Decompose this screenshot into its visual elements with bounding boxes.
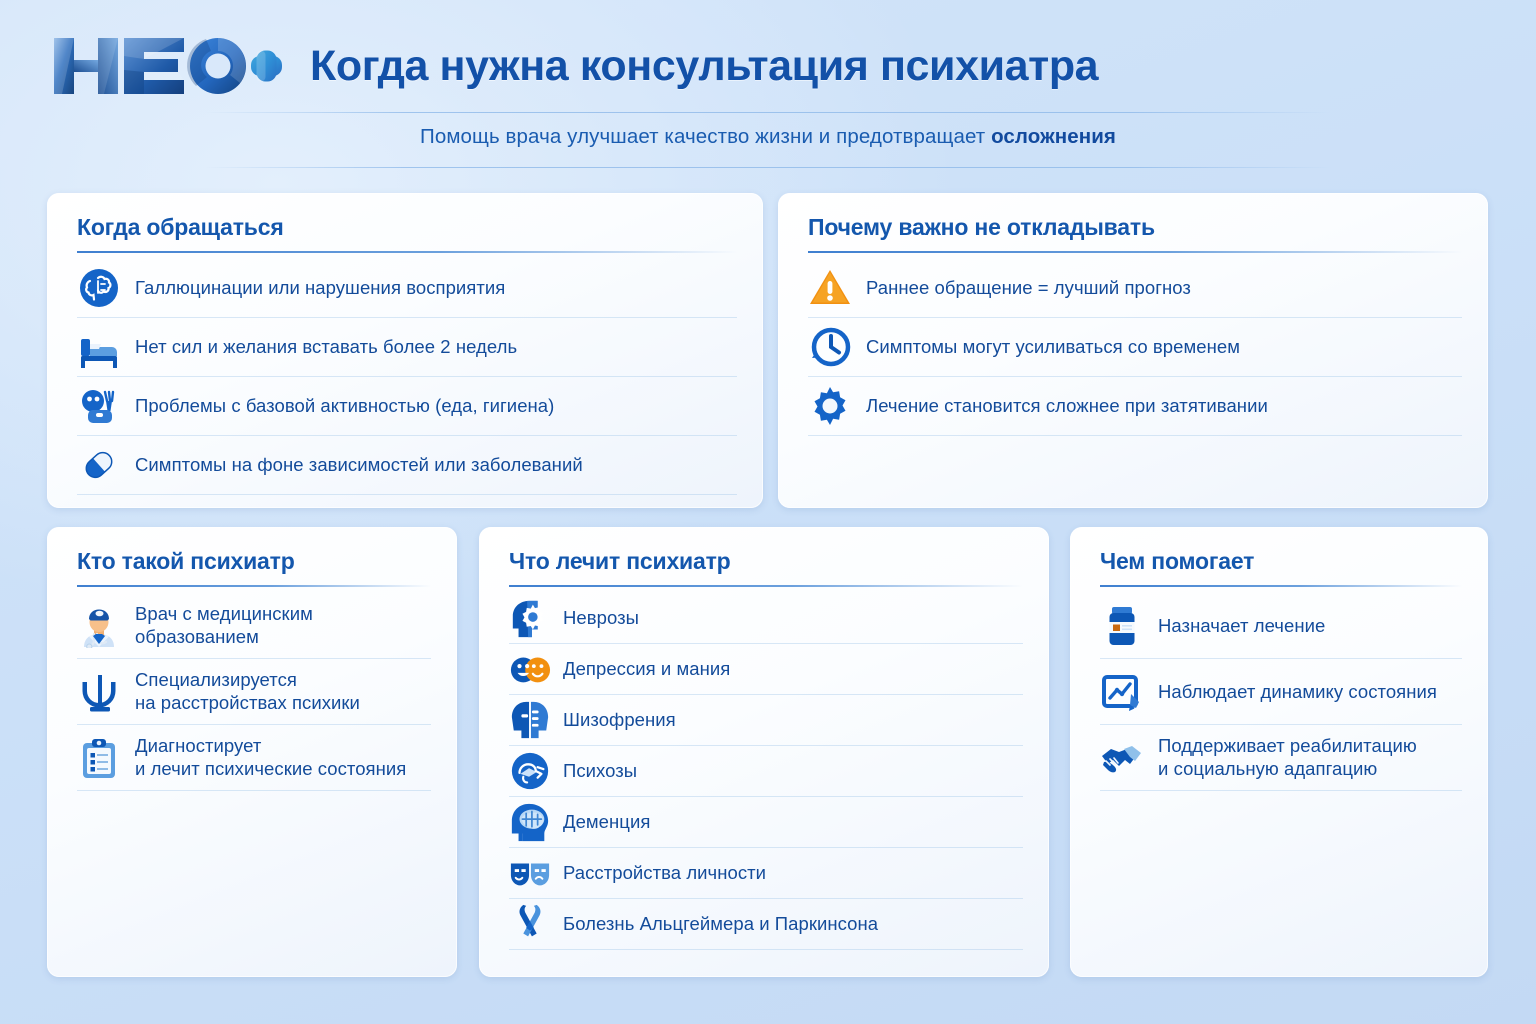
list-item-label: Галлюцинации или нарушения восприятия [135,277,505,300]
bed-icon [77,325,121,369]
subtitle-wrap: Помощь врача улучшает качество жизни и п… [0,125,1536,149]
list-item-label: Диагностируети лечит психические состоян… [135,735,406,780]
card-title-underline [509,585,1023,587]
card-what-psychiatrist-treats: Что лечит психиатрНеврозыДепрессия и ман… [479,527,1049,977]
brand-row: Когда нужна консультация психиатра [48,30,1098,102]
list-item[interactable]: Поддерживает реабилитациюи социальную ад… [1100,725,1462,791]
chart-board-icon [1100,670,1144,714]
list-item[interactable]: Раннее обращение = лучший прогноз [808,259,1462,318]
psi-symbol-icon [77,670,121,714]
card-item-list: Раннее обращение = лучший прогнозСимптом… [808,259,1462,436]
list-item-label: Проблемы с базовой активностью (еда, гиг… [135,395,554,418]
card-item-list: Назначает лечениеНаблюдает динамику сост… [1100,593,1462,791]
header-divider-bottom [205,167,1331,168]
neo-plus-logo [48,30,284,102]
list-item[interactable]: Нет сил и желания вставать более 2 недел… [77,318,737,377]
card-title-underline [808,251,1462,253]
psychosis-head-icon [509,750,551,792]
card-title: Чем помогает [1100,549,1462,585]
card-when-to-seek-help: Когда обращатьсяГаллюцинации или нарушен… [47,193,763,508]
clock-icon [808,325,852,369]
page-header: Когда нужна консультация психиатра Помощ… [0,0,1536,175]
clipboard-icon [77,736,121,780]
list-item[interactable]: Шизофрения [509,695,1023,746]
list-item[interactable]: Неврозы [509,593,1023,644]
brain-icon [77,266,121,310]
card-item-list: Галлюцинации или нарушения восприятияНет… [77,259,737,495]
list-item[interactable]: Лечение становится сложнее при затятиван… [808,377,1462,436]
brain-head-icon [509,801,551,843]
capsule-icon [77,443,121,487]
list-item-label: Психозы [563,760,637,783]
list-item-label: Назначает лечение [1158,615,1325,638]
list-item-label: Врач с медицинскимобразованием [135,603,313,648]
card-title-underline [77,251,737,253]
page-subtitle: Помощь врача улучшает качество жизни и п… [420,125,1116,149]
list-item-label: Лечение становится сложнее при затятиван… [866,395,1268,418]
card-title: Что лечит психиатр [509,549,1023,585]
list-item[interactable]: Симптомы на фоне зависимостей или заболе… [77,436,737,495]
head-gear-icon [509,597,551,639]
card-who-is-psychiatrist: Кто такой психиатрВрач с медицинскимобра… [47,527,457,977]
card-how-psychiatrist-helps: Чем помогаетНазначает лечениеНаблюдает д… [1070,527,1488,977]
card-title-underline [77,585,431,587]
list-item[interactable]: Психозы [509,746,1023,797]
list-item-label: Болезнь Альцгеймера и Паркинсона [563,913,878,936]
list-item-label: Шизофрения [563,709,676,732]
list-item[interactable]: Болезнь Альцгеймера и Паркинсона [509,899,1023,950]
theater-masks-icon [509,852,551,894]
list-item[interactable]: Назначает лечение [1100,593,1462,659]
card-item-list: НеврозыДепрессия и манияШизофренияПсихоз… [509,593,1023,950]
doctor-avatar-icon [77,604,121,648]
list-item-label: Наблюдает динамику состояния [1158,681,1437,704]
list-item-label: Симптомы на фоне зависимостей или заболе… [135,454,583,477]
list-item[interactable]: Галлюцинации или нарушения восприятия [77,259,737,318]
list-item[interactable]: Диагностируети лечит психические состоян… [77,725,431,791]
list-item-label: Поддерживает реабилитациюи социальную ад… [1158,735,1417,780]
subtitle-plain: Помощь врача улучшает качество жизни и п… [420,125,991,148]
list-item[interactable]: Деменция [509,797,1023,848]
handshake-icon [1100,736,1144,780]
list-item[interactable]: Симптомы могут усиливаться со временем [808,318,1462,377]
header-divider-top [205,112,1331,113]
card-why-not-to-delay: Почему важно не откладыватьРаннее обраще… [778,193,1488,508]
list-item-label: Расстройства личности [563,862,766,885]
meal-icon [77,384,121,428]
subtitle-emphasis: осложнения [991,125,1116,148]
list-item-label: Деменция [563,811,650,834]
card-title-underline [1100,585,1462,587]
list-item-label: Депрессия и мания [563,658,730,681]
card-title: Когда обращаться [77,215,737,251]
two-faces-icon [509,648,551,690]
split-head-icon [509,699,551,741]
list-item[interactable]: Проблемы с базовой активностью (еда, гиг… [77,377,737,436]
list-item[interactable]: Специализируетсяна расстройствах психики [77,659,431,725]
list-item[interactable]: Расстройства личности [509,848,1023,899]
page-title: Когда нужна консультация психиатра [310,45,1098,88]
awareness-ribbon-icon [509,903,551,945]
list-item-label: Нет сил и желания вставать более 2 недел… [135,336,517,359]
list-item[interactable]: Депрессия и мания [509,644,1023,695]
list-item-label: Специализируетсяна расстройствах психики [135,669,360,714]
list-item-label: Симптомы могут усиливаться со временем [866,336,1240,359]
card-title: Почему важно не откладывать [808,215,1462,251]
card-item-list: Врач с медицинскимобразованиемСпециализи… [77,593,431,791]
list-item-label: Раннее обращение = лучший прогноз [866,277,1191,300]
list-item[interactable]: Наблюдает динамику состояния [1100,659,1462,725]
gear-icon [808,384,852,428]
pill-bottle-icon [1100,604,1144,648]
warning-triangle-icon [808,266,852,310]
list-item[interactable]: Врач с медицинскимобразованием [77,593,431,659]
list-item-label: Неврозы [563,607,639,630]
card-title: Кто такой психиатр [77,549,431,585]
